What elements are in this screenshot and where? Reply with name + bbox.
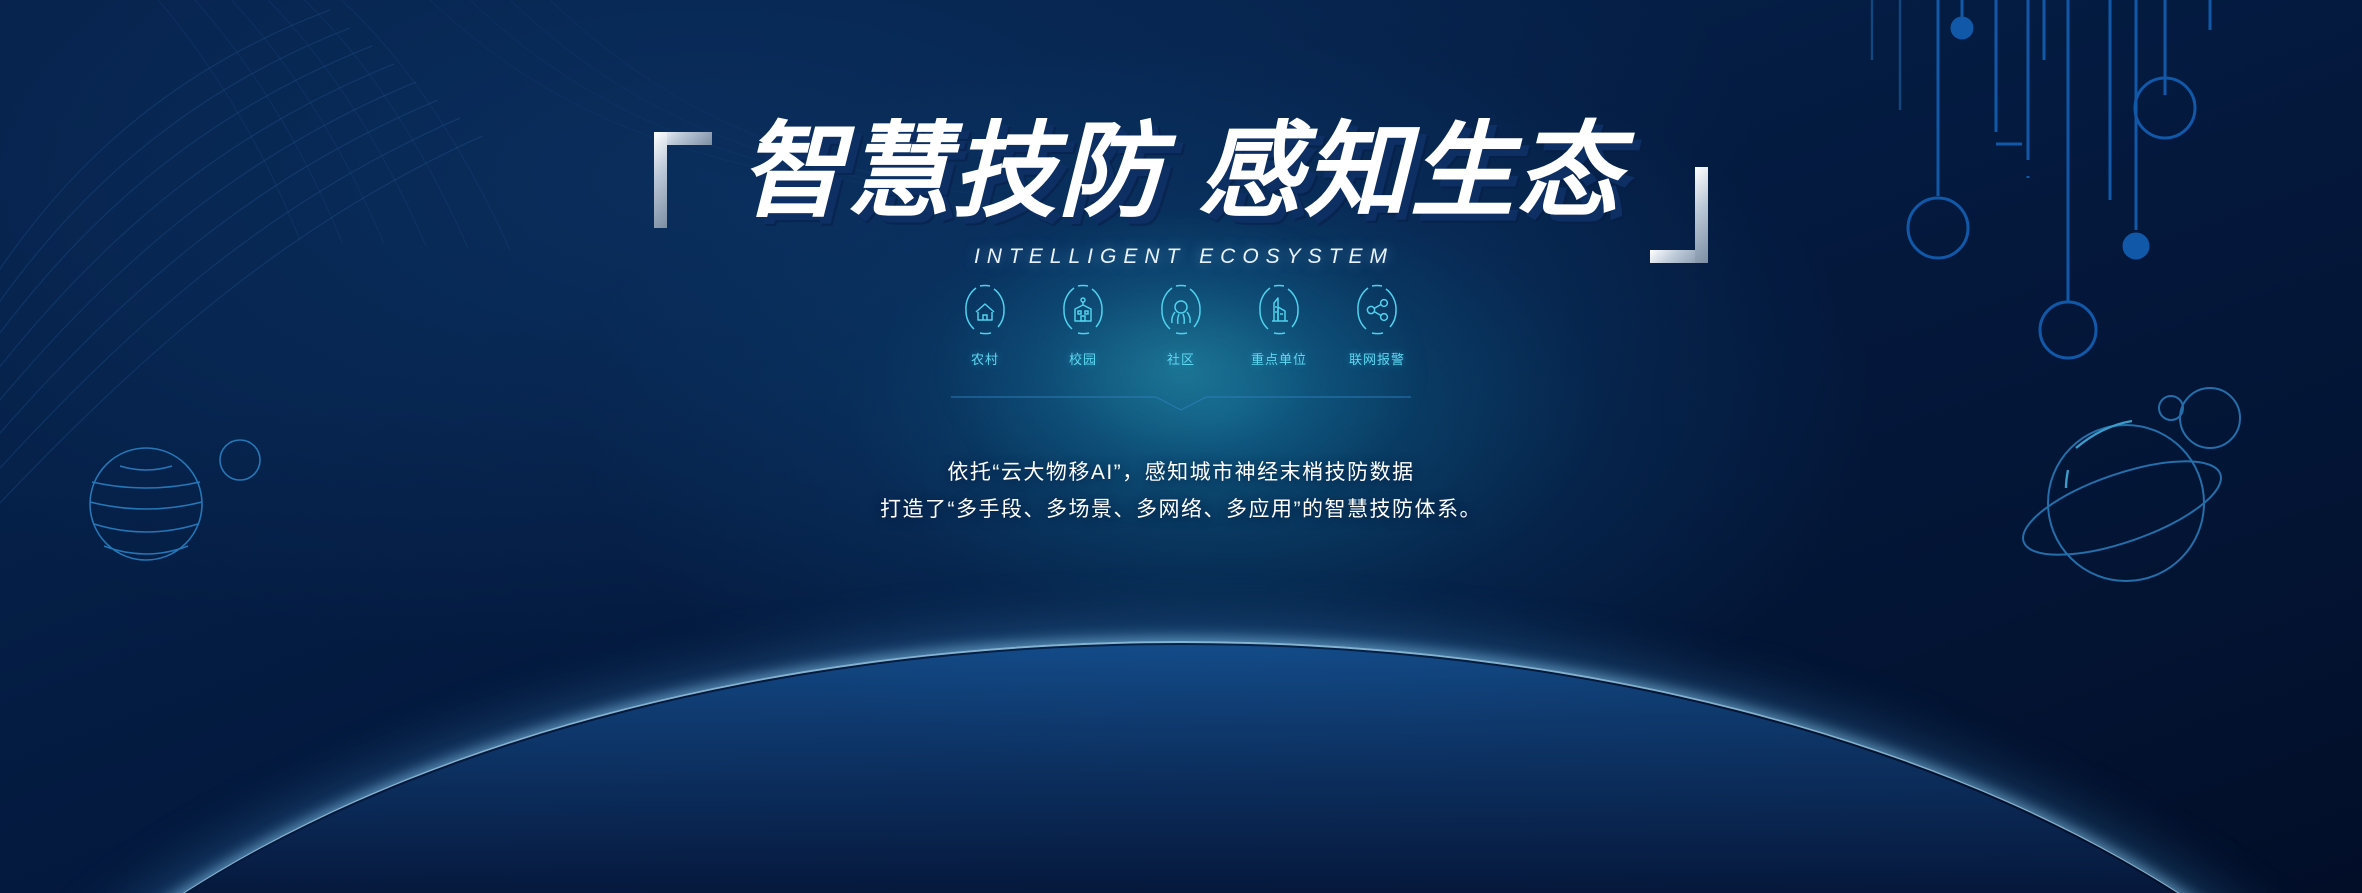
- category-label: 校园: [1069, 349, 1097, 368]
- category-item-key-units[interactable]: 重点单位: [1252, 283, 1306, 368]
- earth-horizon-glow: [0, 641, 2362, 893]
- title-block: 智慧技防感知生态 INTELLIGENT ECOSYSTEM: [0, 118, 2362, 269]
- title-sub: 感知生态: [1198, 114, 1622, 230]
- school-icon: [1056, 283, 1110, 337]
- community-icon: [1154, 283, 1208, 337]
- share-network-icon: [1350, 283, 1404, 337]
- subtitle-english: INTELLIGENT ECOSYSTEM: [0, 245, 2362, 269]
- building-icon: [1252, 283, 1306, 337]
- bracket-open-icon: [654, 132, 714, 198]
- category-item-campus[interactable]: 校园: [1056, 283, 1110, 368]
- category-item-community[interactable]: 社区: [1154, 283, 1208, 368]
- banner-root: 智慧技防感知生态 INTELLIGENT ECOSYSTEM 农村: [0, 0, 2362, 893]
- category-label: 社区: [1167, 349, 1195, 368]
- category-label: 农村: [971, 349, 999, 368]
- category-icon-row: 农村 校园: [958, 283, 1404, 368]
- description-line-2: 打造了“多手段、多场景、多网络、多应用”的智慧技防体系。: [0, 492, 2362, 529]
- description-block: 依托“云大物移AI”，感知城市神经末梢技防数据 打造了“多手段、多场景、多网络、…: [0, 455, 2362, 529]
- category-label: 联网报警: [1349, 349, 1405, 368]
- house-icon: [958, 283, 1012, 337]
- page-title: 智慧技防感知生态: [740, 118, 1622, 227]
- earth-horizon-core: [0, 645, 2362, 893]
- title-main: 智慧技防: [740, 114, 1164, 230]
- bracket-close-icon: [1648, 197, 1708, 263]
- description-line-1: 依托“云大物移AI”，感知城市神经末梢技防数据: [0, 455, 2362, 492]
- section-divider: [951, 395, 1411, 413]
- category-label: 重点单位: [1251, 349, 1307, 368]
- category-item-network-alarm[interactable]: 联网报警: [1350, 283, 1404, 368]
- category-item-rural[interactable]: 农村: [958, 283, 1012, 368]
